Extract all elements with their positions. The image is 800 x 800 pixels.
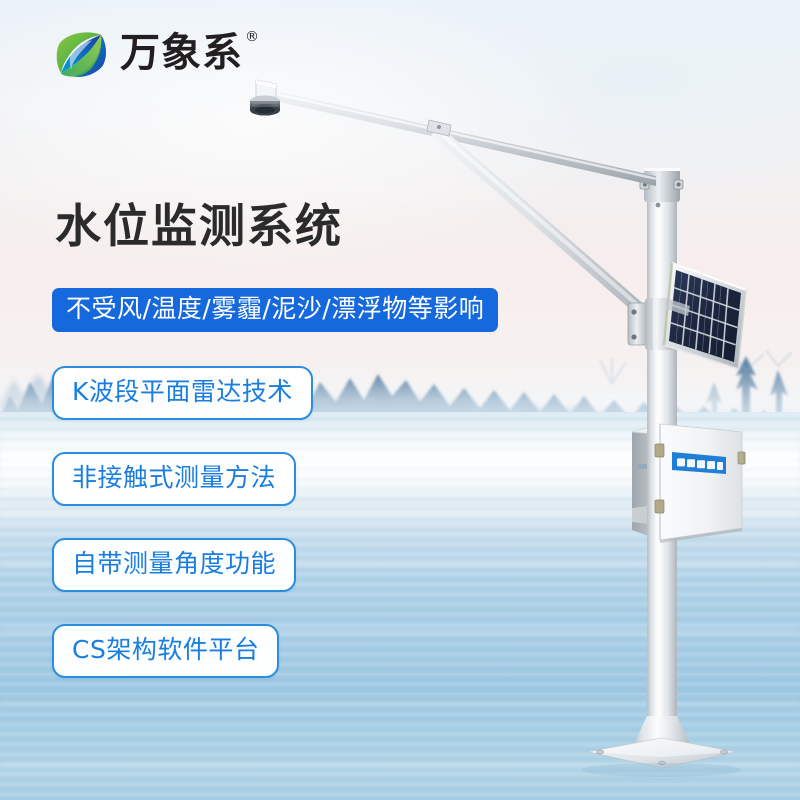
brand-name: 万象系 (120, 30, 243, 76)
feature-pill-4: CS架构软件平台 (52, 624, 279, 678)
feature-pill-1: K波段平面雷达技术 (52, 366, 313, 420)
brand-name-wrap: 万象系 ® (120, 33, 243, 73)
hero-banner: 不受风/温度/雾霾/泥沙/漂浮物等影响 (52, 288, 498, 332)
promo-banner-stage: 万象系 ® 水位监测系统 不受风/温度/雾霾/泥沙/漂浮物等影响 K波段平面雷达… (0, 0, 800, 800)
control-cabinet-front (655, 424, 745, 543)
feature-pill-3: 自带测量角度功能 (52, 538, 296, 592)
cantilever-arm (256, 80, 656, 186)
page-title: 水位监测系统 (55, 202, 343, 250)
base-flange-plate (582, 716, 742, 777)
globe-swirl-logo-icon (52, 24, 110, 82)
feature-pill-2: 非接触式测量方法 (52, 452, 296, 506)
brand-logo: 万象系 ® (52, 24, 243, 82)
feature-list: K波段平面雷达技术 非接触式测量方法 自带测量角度功能 CS架构软件平台 (52, 366, 313, 678)
radar-level-sensor (250, 96, 280, 116)
registered-trademark-icon: ® (245, 30, 260, 44)
